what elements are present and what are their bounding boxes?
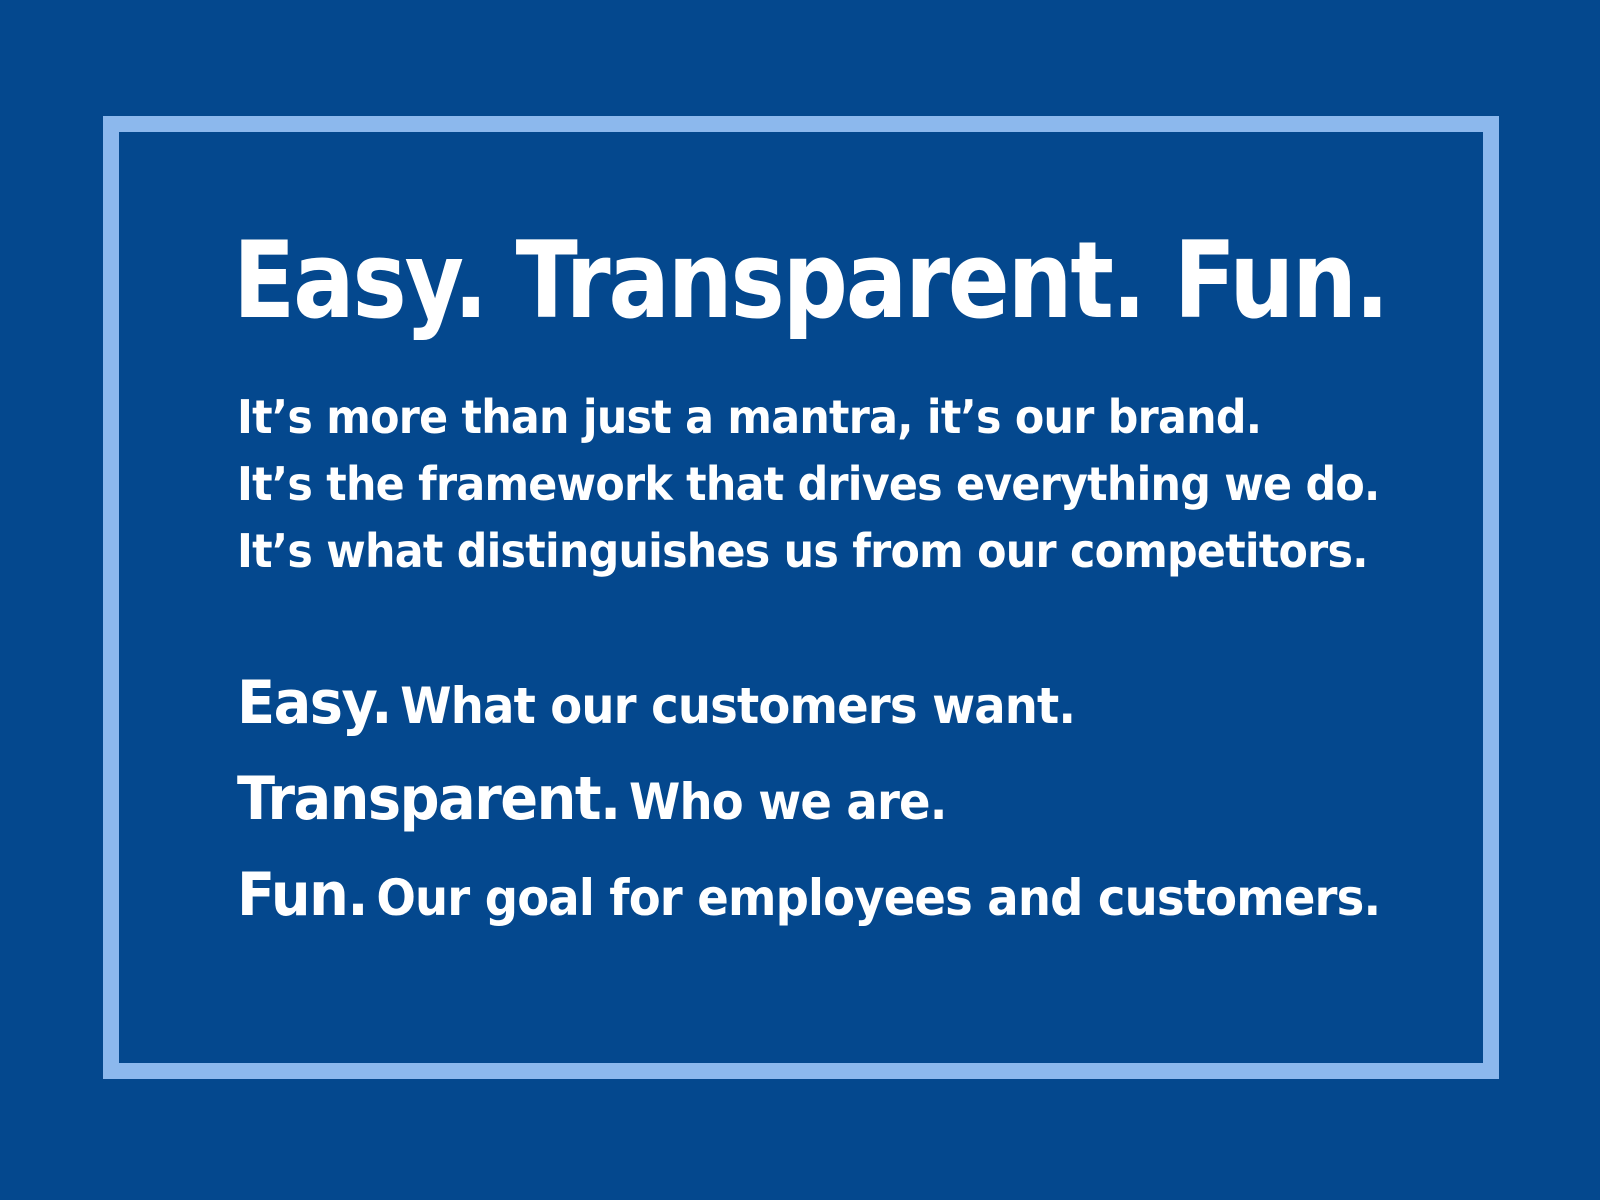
definition-item-transparent: Transparent.Who we are. — [237, 759, 1334, 855]
definition-list: Easy.What our customers want. Transparen… — [237, 663, 1417, 951]
definition-item-easy: Easy.What our customers want. — [237, 663, 1334, 759]
definition-term-easy: Easy. — [237, 668, 391, 738]
intro-paragraph: It’s more than just a mantra, it’s our b… — [237, 384, 1417, 585]
intro-line-1: It’s more than just a mantra, it’s our b… — [237, 384, 1334, 451]
definition-term-transparent: Transparent. — [237, 764, 620, 834]
definition-description-fun: Our goal for employees and customers. — [376, 869, 1380, 927]
slide-content: Easy. Transparent. Fun. It’s more than j… — [237, 226, 1417, 951]
definition-description-easy: What our customers want. — [400, 677, 1075, 735]
definition-term-fun: Fun. — [237, 860, 367, 930]
page-title: Easy. Transparent. Fun. — [233, 226, 1251, 336]
definition-description-transparent: Who we are. — [629, 773, 947, 831]
brand-mantra-slide: Easy. Transparent. Fun. It’s more than j… — [0, 0, 1600, 1200]
definition-item-fun: Fun.Our goal for employees and customers… — [237, 855, 1334, 951]
intro-line-3: It’s what distinguishes us from our comp… — [237, 518, 1334, 585]
intro-line-2: It’s the framework that drives everythin… — [237, 451, 1334, 518]
